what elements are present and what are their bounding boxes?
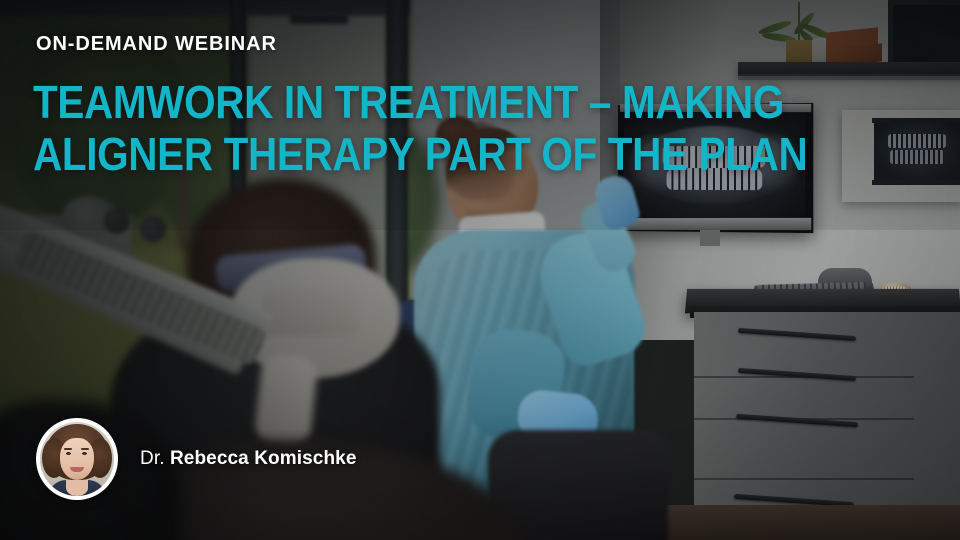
presenter-full-name: Rebecca Komischke <box>170 448 357 469</box>
presenter-title-prefix: Dr. <box>140 448 170 469</box>
eyebrow-label: ON-DEMAND WEBINAR <box>36 33 277 56</box>
page-title: TEAMWORK IN TREATMENT – MAKING ALIGNER T… <box>33 76 614 180</box>
avatar-eye <box>82 452 87 455</box>
avatar-eyebrow <box>81 448 89 450</box>
avatar <box>36 418 118 500</box>
headline-line-1: TEAMWORK IN TREATMENT – MAKING <box>33 76 614 128</box>
avatar-face <box>60 438 94 480</box>
webinar-title-slide: ON-DEMAND WEBINAR TEAMWORK IN TREATMENT … <box>0 0 960 540</box>
headline-line-2: ALIGNER THERAPY PART OF THE PLAN <box>33 128 614 180</box>
avatar-eyebrow <box>64 448 72 450</box>
presenter-name: Dr. Rebecca Komischke <box>140 448 356 470</box>
slide-content: ON-DEMAND WEBINAR TEAMWORK IN TREATMENT … <box>0 0 960 540</box>
avatar-photo <box>40 422 114 496</box>
avatar-eye <box>66 452 71 455</box>
avatar-neckline <box>66 480 88 496</box>
presenter-block: Dr. Rebecca Komischke <box>36 418 356 500</box>
